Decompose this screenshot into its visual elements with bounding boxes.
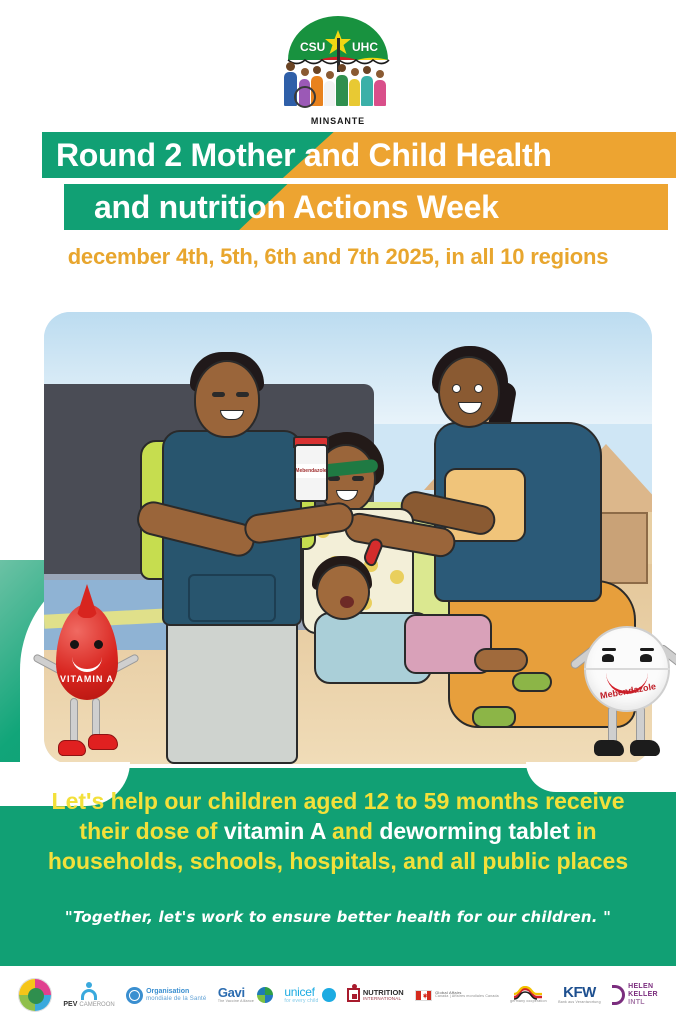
eye: [452, 384, 461, 393]
tablet-score-line: [584, 668, 670, 670]
kfw-wordmark: KFW Bank aus Verantwortung: [558, 985, 601, 1004]
logo-person: [374, 80, 386, 106]
pev-wordmark: PEV CAMEROON: [63, 1001, 114, 1008]
pev-head-dot: [86, 982, 92, 988]
german-wave-icon: [513, 986, 543, 1000]
logo-person: [361, 76, 373, 106]
eyebrow: [640, 648, 654, 651]
ministry-label: MINSANTE: [278, 116, 398, 126]
title-line-2-text: and nutrition Actions Week: [64, 184, 668, 230]
hk-label-2: KELLER: [628, 991, 658, 999]
title-line-2-bar: and nutrition Actions Week: [64, 184, 668, 230]
nutrition-international-wordmark: NUTRITION INTERNATIONAL: [363, 989, 404, 1002]
logo-person: [336, 75, 348, 106]
who-logo: Organisation mondiale de la Santé: [126, 987, 206, 1004]
logo-person-head: [338, 64, 346, 72]
helen-keller-arc-icon: [612, 985, 625, 1005]
vest-pocket: [188, 574, 276, 622]
logo-person-head: [376, 70, 384, 78]
eye: [70, 640, 79, 649]
mebendazole-mascot: Mebendazole: [572, 610, 676, 760]
campaign-quote: "Together, let's work to ensure better h…: [0, 908, 676, 926]
mascot-leg: [636, 706, 645, 744]
gac-sublabel: Canada | Affaires mondiales Canada: [435, 995, 499, 999]
unicef-sublabel: for every child: [284, 999, 318, 1004]
health-worker-2-head: [438, 356, 500, 428]
who-globe-icon: [126, 987, 143, 1004]
message-line-2-prefix: their dose of: [79, 818, 223, 844]
mascot-shoe: [88, 734, 118, 750]
nutrition-international-logo: NUTRITION INTERNATIONAL: [347, 988, 404, 1002]
partner-logo-strip: PEV CAMEROON Organisation mondiale de la…: [0, 966, 676, 1024]
german-cooperation-mark: germany cooperation: [510, 986, 547, 1004]
minsante-umbrella-logo: CSU UHC MINSA: [278, 12, 398, 124]
flag-bar: [427, 991, 432, 1000]
ni-dot: [352, 984, 357, 989]
message-line-2: their dose of vitamin A and deworming ta…: [0, 816, 676, 846]
message-line-1: Let's help our children aged 12 to 59 mo…: [0, 786, 676, 816]
kfw-sublabel: Bank aus Verantwortung: [558, 1001, 601, 1005]
mascot-shoe: [58, 740, 86, 756]
hk-label-3: INTL: [628, 999, 658, 1007]
gavi-label: Gavi: [218, 986, 254, 1000]
eyebrow: [602, 648, 616, 651]
eye: [602, 654, 614, 662]
german-cooperation-label: germany cooperation: [510, 1000, 547, 1004]
mascot-leg: [608, 706, 617, 744]
smile: [458, 402, 482, 414]
ops-logo-icon: [18, 978, 52, 1012]
pev-logo-icon: PEV CAMEROON: [63, 982, 114, 1008]
unicef-label: unicef: [284, 986, 318, 999]
gavi-circle-icon: [257, 987, 273, 1003]
gavi-wordmark: Gavi The Vaccine Alliance: [218, 986, 254, 1003]
global-affairs-canada-logo: Global Affairs Canada | Affaires mondial…: [415, 990, 499, 1001]
message-text-block: Let's help our children aged 12 to 59 mo…: [0, 786, 676, 876]
highlight-vitamin-a: vitamin A: [224, 818, 326, 844]
health-worker-1-legs: [166, 618, 298, 764]
child-open-mouth: [340, 596, 354, 608]
eye: [474, 384, 483, 393]
poster-root: CSU UHC MINSA: [0, 0, 676, 1024]
pev-person-icon: [81, 982, 97, 1000]
highlight-deworming-tablet: deworming tablet: [379, 818, 569, 844]
message-panel: Let's help our children aged 12 to 59 mo…: [0, 768, 676, 966]
vitamin-a-mascot: VITAMIN A: [30, 604, 138, 764]
health-worker-1-head: [194, 360, 260, 438]
vitamin-a-mascot-label: VITAMIN A: [38, 674, 136, 684]
unicef-logo: unicef for every child: [284, 986, 335, 1004]
medicine-bottle-label: Mebendazole: [296, 464, 326, 478]
nutrition-international-icon: [347, 988, 360, 1002]
ni-inner-square: [352, 994, 357, 999]
helen-keller-intl-logo: HELEN KELLER INTL: [612, 983, 658, 1007]
vitamin-a-droplet-body: [56, 604, 118, 700]
german-cooperation-logo: germany cooperation: [510, 986, 547, 1004]
logo-person-head: [351, 68, 359, 76]
logo-center: [28, 988, 44, 1004]
logo-person-head: [326, 71, 334, 79]
smile: [220, 410, 244, 420]
title-line-1-text: Round 2 Mother and Child Health: [42, 132, 676, 178]
message-line-2-suffix: in: [570, 818, 597, 844]
kfw-label: KFW: [563, 985, 596, 1001]
poster-title: Round 2 Mother and Child Health and nutr…: [0, 132, 676, 236]
logo-person: [324, 81, 335, 106]
logo-person-head: [301, 68, 309, 76]
logo-people-group: [282, 58, 394, 106]
umbrella-uhc-label: UHC: [352, 40, 378, 54]
message-line-3: households, schools, hospitals, and all …: [0, 846, 676, 876]
message-line-2-conjunction: and: [326, 818, 380, 844]
hk-label-1: HELEN: [628, 983, 658, 991]
logo-person-head: [286, 62, 295, 71]
child-leg: [474, 648, 528, 672]
child-head: [316, 564, 370, 620]
health-worker-2-shoe: [512, 672, 552, 692]
eye: [640, 654, 652, 662]
fabric-pattern-dot: [390, 570, 404, 584]
title-line-1-bar: Round 2 Mother and Child Health: [42, 132, 676, 178]
canada-flag-icon: [415, 990, 432, 1001]
ministry-logo-container: CSU UHC MINSA: [0, 8, 676, 128]
message-line-3-text: households, schools, hospitals, and all …: [48, 848, 628, 874]
wheelchair-icon: [294, 86, 316, 108]
umbrella-csu-label: CSU: [300, 40, 325, 54]
logo-person-head: [363, 66, 371, 74]
eye: [212, 392, 225, 397]
health-worker-2-shoe: [472, 706, 516, 728]
eye: [236, 392, 249, 397]
mascot-boot: [594, 740, 624, 756]
smile: [72, 656, 102, 672]
smile: [336, 490, 358, 501]
mascot-leg: [70, 698, 78, 744]
message-line-1-text: Let's help our children aged 12 to 59 mo…: [52, 788, 625, 814]
pev-cameroon-logo: PEV CAMEROON: [63, 982, 114, 1008]
pev-label: PEV: [63, 1001, 77, 1008]
pev-sublabel: CAMEROON: [79, 1002, 114, 1008]
gavi-logo: Gavi The Vaccine Alliance: [218, 986, 273, 1003]
kfw-logo: KFW Bank aus Verantwortung: [558, 985, 601, 1004]
eye: [94, 640, 103, 649]
flag-bar: [416, 991, 421, 1000]
who-globe-inner: [129, 990, 140, 1001]
unicef-globe-icon: [322, 988, 336, 1002]
who-wordmark: Organisation mondiale de la Santé: [146, 988, 206, 1002]
helen-keller-wordmark: HELEN KELLER INTL: [628, 983, 658, 1007]
unicef-wordmark: unicef for every child: [284, 986, 318, 1004]
mascot-boot: [630, 740, 660, 756]
gavi-sublabel: The Vaccine Alliance: [218, 1000, 254, 1004]
global-affairs-wordmark: Global Affairs Canada | Affaires mondial…: [435, 991, 499, 999]
campaign-dateline: december 4th, 5th, 6th and 7th 2025, in …: [0, 244, 676, 270]
logo-person-head: [313, 66, 321, 74]
ops-circle-logo: [18, 978, 52, 1012]
who-sublabel: mondiale de la Santé: [146, 996, 206, 1002]
who-label: Organisation: [146, 988, 206, 995]
logo-person: [349, 79, 360, 106]
eye: [352, 476, 364, 481]
pev-body-arc: [81, 989, 97, 1000]
ni-sublabel: INTERNATIONAL: [363, 997, 404, 1002]
